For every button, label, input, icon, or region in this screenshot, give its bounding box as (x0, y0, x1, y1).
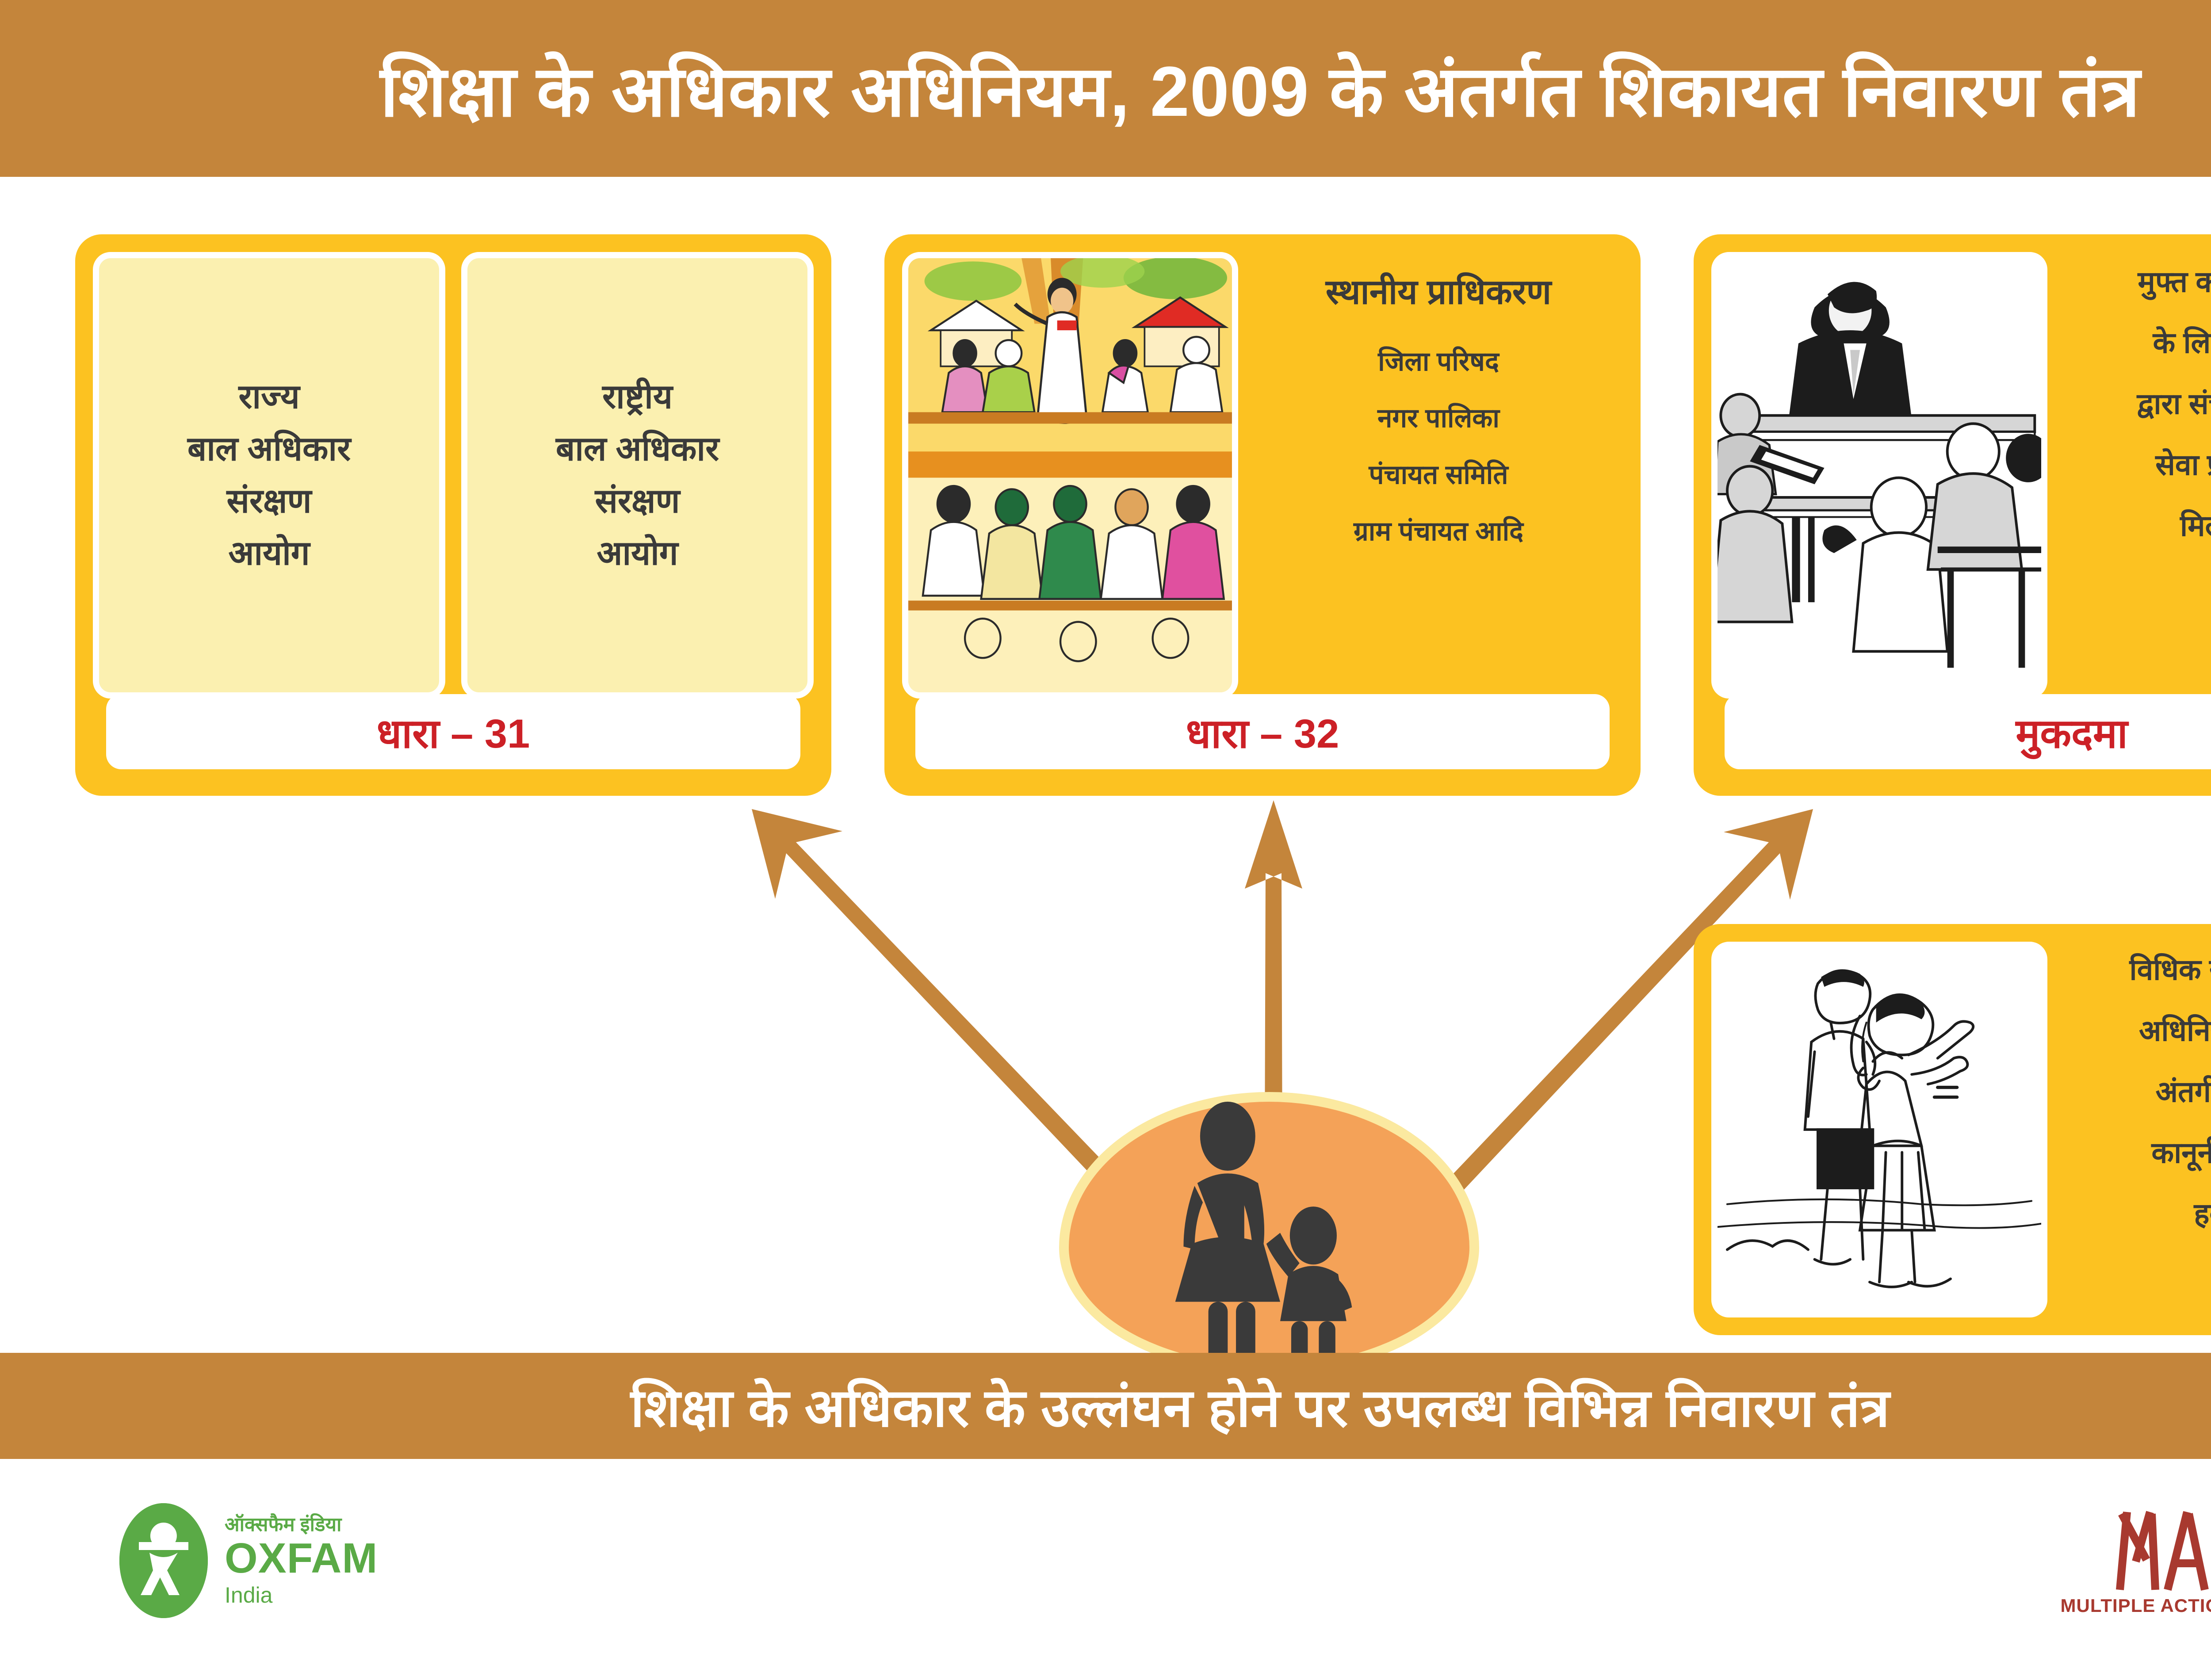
footer-banner: शिक्षा के अधिकार के उल्लंघन होने पर उपलब… (0, 1353, 2211, 1459)
legal-services-line-3: अंतर्गत बच्चे मुफ्त (2156, 1071, 2211, 1111)
local-authority-item-2: नगर पालिका (1377, 399, 1500, 435)
panel-national-commission: राष्ट्रीय बाल अधिकार संरक्षण आयोग (461, 252, 814, 699)
state-commission-line-1: राज्य (238, 379, 299, 415)
card-litigation[interactable]: मुफ्त कानूनी सहायता के लिए आप राज्य द्वा… (1694, 234, 2211, 796)
litigation-line-5: मिल सकते हैं (2180, 505, 2211, 545)
oxfam-figure-icon (119, 1503, 208, 1618)
local-authority-item-1: जिला परिषद (1378, 342, 1499, 378)
oxfam-india-logo: ऑक्सफैम इंडिया OXFAM India (119, 1494, 438, 1627)
local-authority-item-3: पंचायत समिति (1369, 455, 1508, 492)
oxfam-hindi-name: ऑक्सफैम इंडिया (225, 1515, 378, 1535)
local-authority-text: स्थानीय प्राधिकरण जिला परिषद नगर पालिका … (1254, 252, 1623, 699)
oxfam-country: India (225, 1584, 378, 1606)
legal-services-line-4: कानूनी सहायता के (2151, 1132, 2211, 1172)
litigation-text: मुफ्त कानूनी सहायता के लिए आप राज्य द्वा… (2063, 252, 2211, 699)
legal-services-text: विधिक सेवा प्राधिकरण अधिनियम, 1987 के अं… (2063, 942, 2211, 1317)
national-commission-line-3: संरक्षण (595, 484, 680, 519)
legal-services-line-1: विधिक सेवा प्राधिकरण (2130, 949, 2211, 989)
national-commission-line-1: राष्ट्रीय (602, 379, 673, 415)
litigation-line-1: मुफ्त कानूनी सहायता (2138, 261, 2211, 301)
state-commission-line-2: बाल अधिकार (187, 431, 351, 467)
litigation-line-2: के लिए आप राज्य (2153, 322, 2211, 362)
state-commission-line-4: आयोग (228, 536, 310, 571)
marg-acronym-mark (2100, 1505, 2211, 1593)
legal-services-line-2: अधिनियम, 1987 के (2139, 1010, 2211, 1050)
panchayat-scene-svg (908, 258, 1232, 692)
ribbon-section-31: धारा – 31 (106, 694, 800, 769)
national-commission-line-4: आयोग (597, 536, 678, 571)
card-commissions[interactable]: राज्य बाल अधिकार संरक्षण आयोग राष्ट्रीय … (75, 234, 831, 796)
litigation-line-4: सेवा प्राधिकरण से (2155, 444, 2211, 484)
village-panchayat-illustration (902, 252, 1238, 699)
marg-logo: MULTIPLE ACTION RESEARCH GROUP (2069, 1490, 2211, 1631)
hub-mother-child (1059, 1092, 1479, 1375)
mother-and-child-icon (1059, 1092, 1479, 1375)
ribbon-section-32: धारा – 32 (915, 694, 1610, 769)
two-children-svg (1718, 948, 2041, 1311)
footer-title: शिक्षा के अधिकार के उल्लंघन होने पर उपलब… (631, 1370, 1890, 1442)
infographic-poster: शिक्षा के अधिकार अधिनियम, 2009 के अंतर्ग… (0, 0, 2211, 1680)
local-authority-item-4: ग्राम पंचायत आदि (1354, 512, 1523, 548)
oxfam-name: OXFAM (225, 1537, 378, 1580)
courtroom-scene-svg (1718, 258, 2041, 692)
panel-state-commission: राज्य बाल अधिकार संरक्षण आयोग (93, 252, 445, 699)
marg-tagline: MULTIPLE ACTION RESEARCH GROUP (2061, 1595, 2211, 1616)
oxfam-person-glyph (119, 1503, 208, 1618)
litigation-line-3: द्वारा संचालित विधिक (2137, 383, 2211, 423)
state-commission-line-3: संरक्षण (227, 484, 312, 519)
page-title: शिक्षा के अधिकार अधिनियम, 2009 के अंतर्ग… (380, 40, 2141, 137)
ribbon-mukadma: मुकदमा (1725, 694, 2211, 769)
national-commission-line-2: बाल अधिकार (556, 431, 719, 467)
header-banner: शिक्षा के अधिकार अधिनियम, 2009 के अंतर्ग… (0, 0, 2211, 177)
local-authority-heading: स्थानीय प्राधिकरण (1326, 267, 1551, 314)
card-legal-services[interactable]: विधिक सेवा प्राधिकरण अधिनियम, 1987 के अं… (1694, 924, 2211, 1335)
children-illustration (1711, 942, 2047, 1317)
card-local-authority[interactable]: स्थानीय प्राधिकरण जिला परिषद नगर पालिका … (884, 234, 1641, 796)
courtroom-illustration (1711, 252, 2047, 699)
legal-services-line-5: हक़दार हैं। (2194, 1193, 2211, 1233)
oxfam-wordmark: ऑक्सफैम इंडिया OXFAM India (225, 1515, 378, 1606)
